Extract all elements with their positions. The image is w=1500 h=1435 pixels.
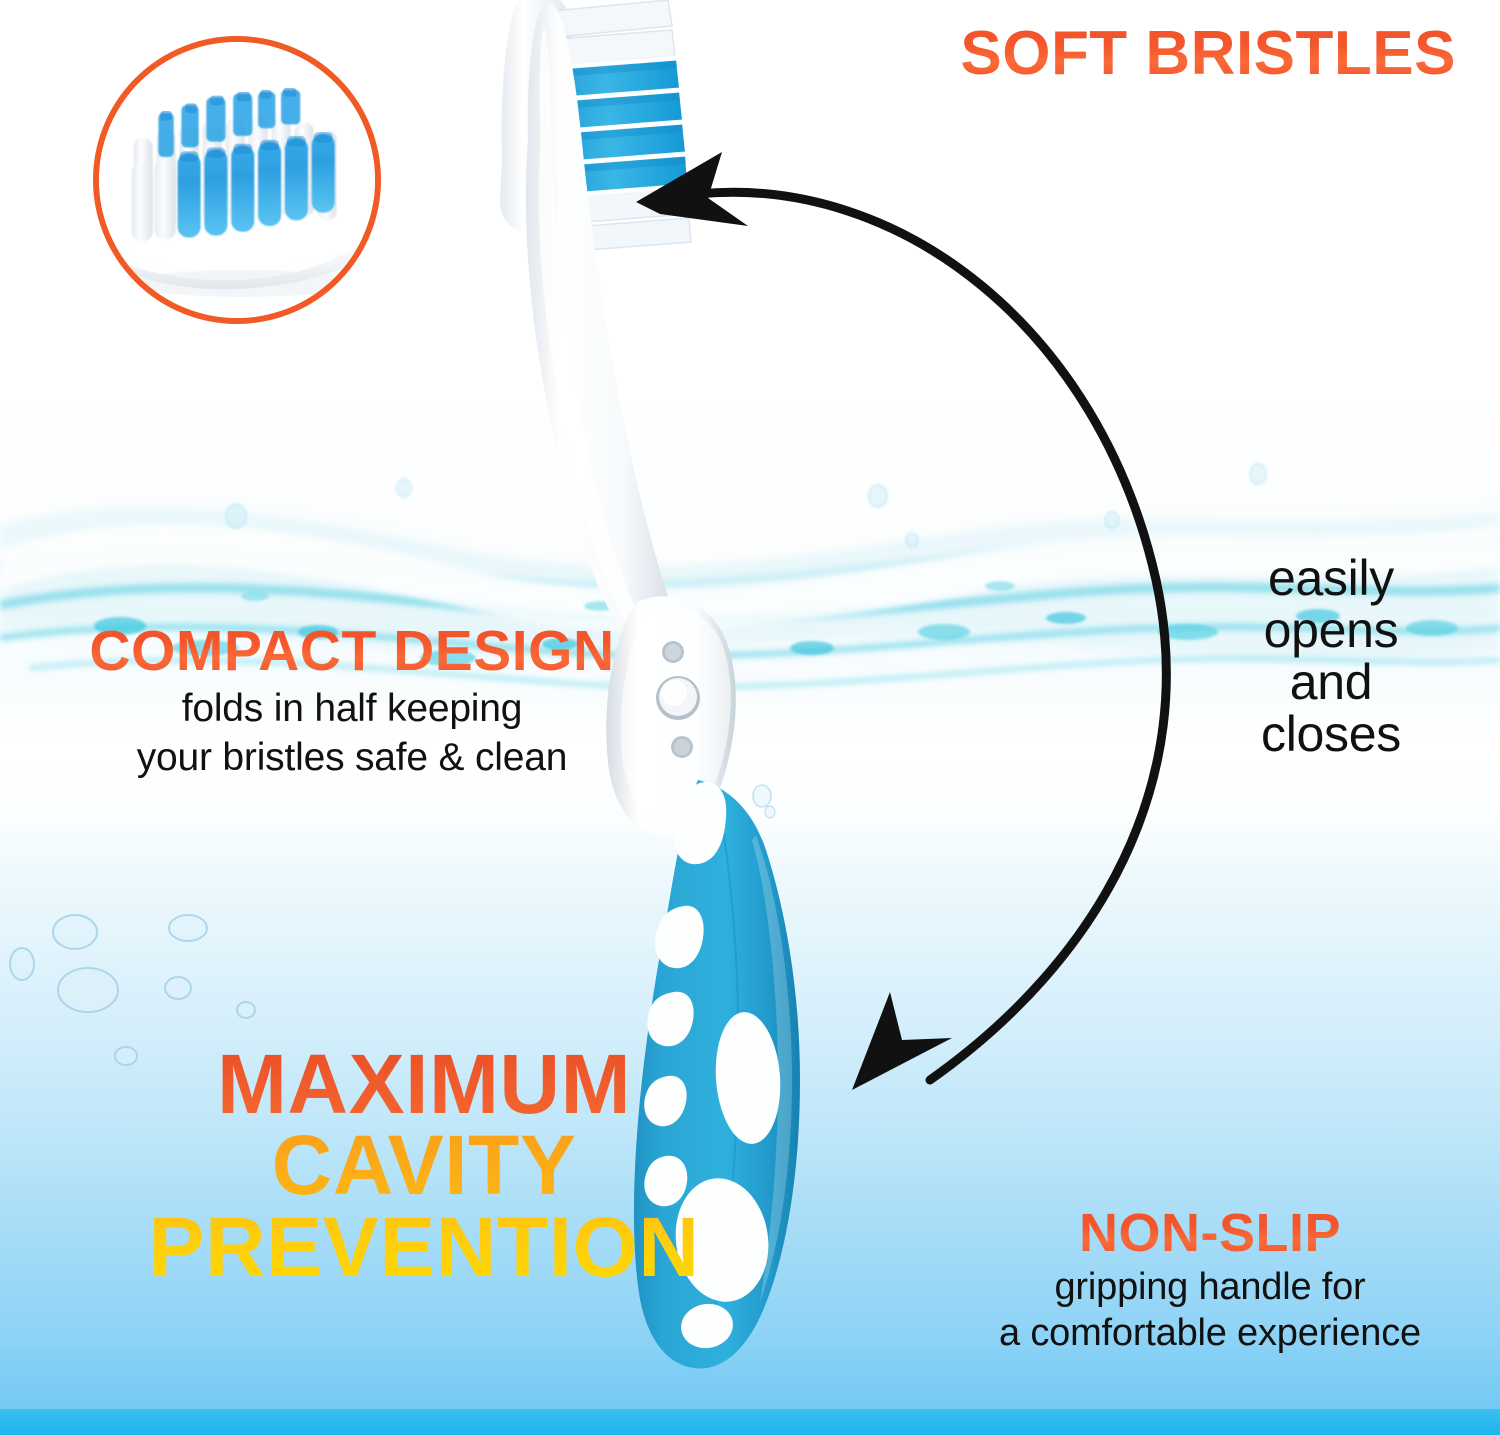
maximum-cavity-prevention-headline: MAXIMUM CAVITY PREVENTION — [84, 1044, 764, 1288]
non-slip-subtext-line2: a comfortable experience — [930, 1313, 1490, 1353]
compact-design-subtext-line1: folds in half keeping — [42, 688, 662, 729]
easily-opens-callout: easily opens and closes — [1186, 552, 1476, 760]
infographic-canvas: SOFT BRISTLES COMPACT DESIGN folds in ha… — [0, 0, 1500, 1435]
non-slip-callout: NON-SLIP gripping handle for a comfortab… — [930, 1206, 1490, 1354]
easily-opens-line3: and — [1186, 656, 1476, 708]
max-line-2: CAVITY — [84, 1125, 764, 1206]
non-slip-headline: NON-SLIP — [930, 1206, 1490, 1261]
compact-design-subtext-line2: your bristles safe & clean — [42, 737, 662, 778]
non-slip-subtext-line1: gripping handle for — [930, 1267, 1490, 1307]
max-line-3: PREVENTION — [84, 1207, 764, 1288]
compact-design-callout: COMPACT DESIGN folds in half keeping you… — [42, 622, 662, 779]
easily-opens-line1: easily — [1186, 552, 1476, 604]
max-line-1: MAXIMUM — [84, 1044, 764, 1125]
easily-opens-line2: opens — [1186, 604, 1476, 656]
compact-design-headline: COMPACT DESIGN — [42, 622, 662, 680]
bristle-closeup-circle — [93, 36, 381, 324]
bristle-closeup-image — [99, 42, 375, 318]
easily-opens-line4: closes — [1186, 708, 1476, 760]
bottom-water-strip — [0, 1409, 1500, 1435]
soft-bristles-headline: SOFT BRISTLES — [960, 22, 1456, 85]
